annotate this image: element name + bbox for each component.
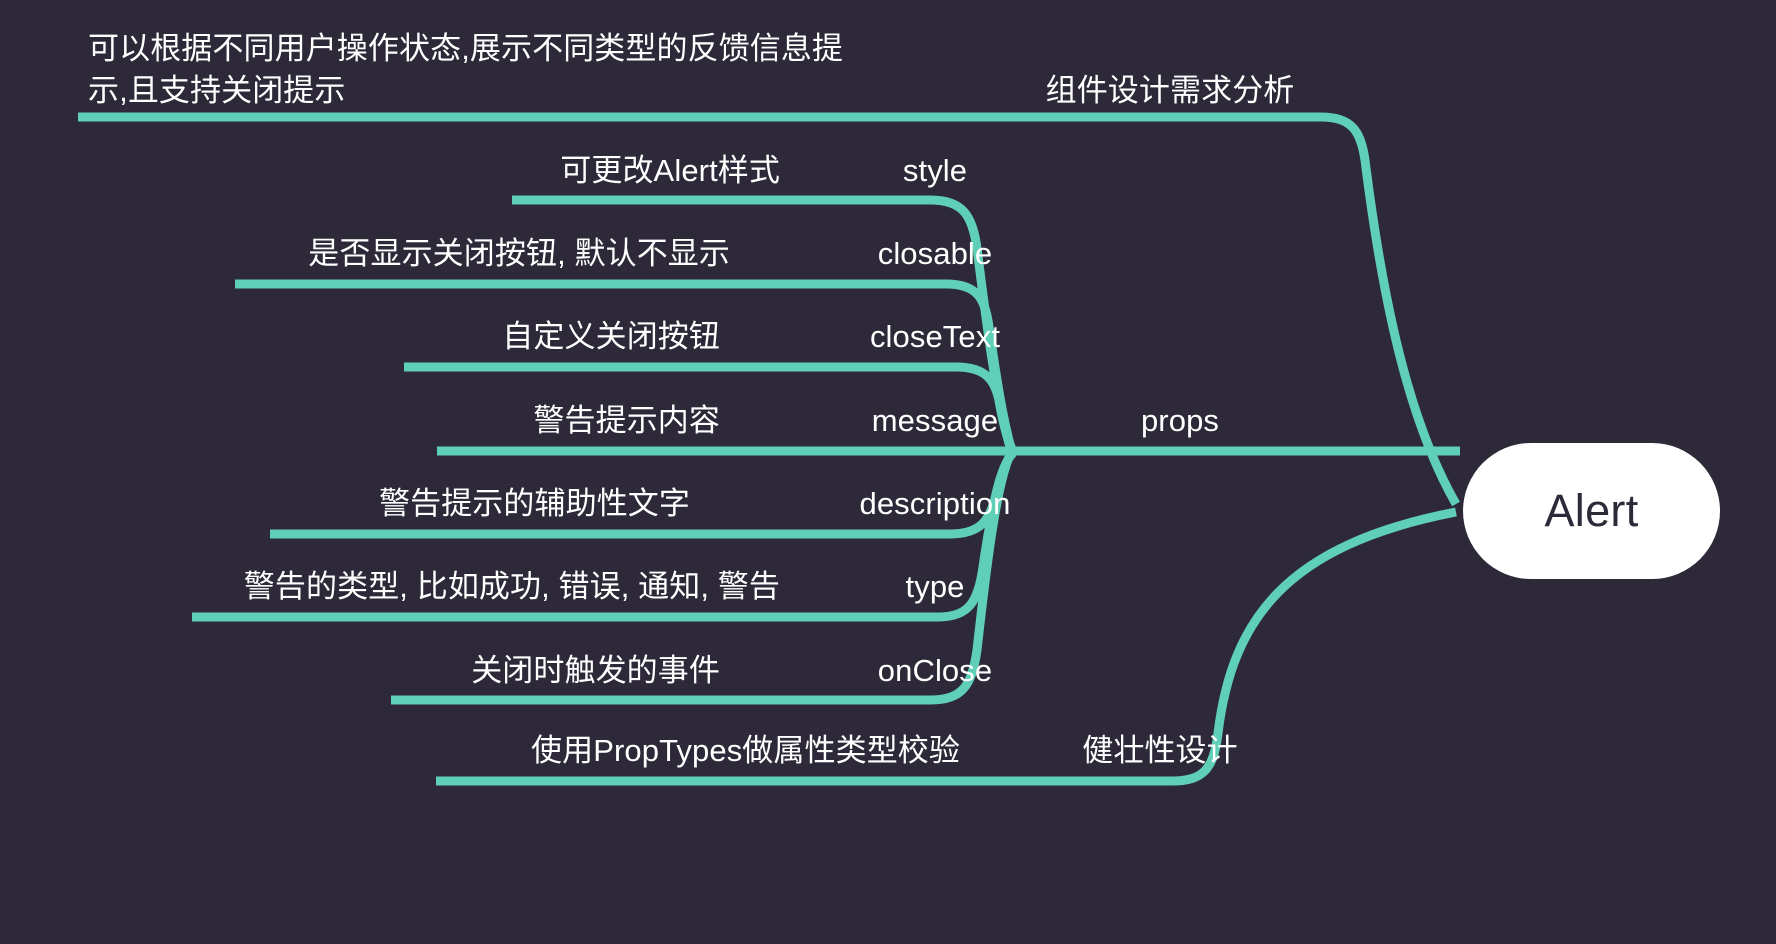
node-props[interactable]: props xyxy=(1100,400,1260,442)
node-prop-type-description[interactable]: 警告的类型, 比如成功, 错误, 通知, 警告 xyxy=(40,566,780,608)
node-prop-description[interactable]: description xyxy=(830,483,1040,525)
node-root-alert-label: Alert xyxy=(1544,485,1638,537)
node-prop-closetext[interactable]: closeText xyxy=(830,316,1040,358)
node-requirements-description[interactable]: 可以根据不同用户操作状态,展示不同类型的反馈信息提 示,且支持关闭提示 xyxy=(88,28,878,112)
node-prop-closable-description[interactable]: 是否显示关闭按钮, 默认不显示 xyxy=(130,233,730,275)
node-prop-closable[interactable]: closable xyxy=(830,233,1040,275)
node-root-alert[interactable]: Alert xyxy=(1463,443,1720,579)
node-prop-style[interactable]: style xyxy=(830,150,1040,192)
node-prop-type[interactable]: type xyxy=(830,566,1040,608)
node-requirements[interactable]: 组件设计需求分析 xyxy=(1040,70,1300,112)
node-prop-style-description[interactable]: 可更改Alert样式 xyxy=(180,150,780,192)
node-robustness[interactable]: 健壮性设计 xyxy=(1010,730,1310,772)
node-prop-description-description[interactable]: 警告提示的辅助性文字 xyxy=(90,483,690,525)
node-robustness-proptypes[interactable]: 使用PropTypes做属性类型校验 xyxy=(300,730,960,772)
node-prop-onclose[interactable]: onClose xyxy=(830,650,1040,692)
node-prop-message-description[interactable]: 警告提示内容 xyxy=(120,400,720,442)
mindmap-canvas: 可以根据不同用户操作状态,展示不同类型的反馈信息提 示,且支持关闭提示 组件设计… xyxy=(0,0,1776,944)
node-prop-onclose-description[interactable]: 关闭时触发的事件 xyxy=(120,650,720,692)
node-prop-closetext-description[interactable]: 自定义关闭按钮 xyxy=(120,316,720,358)
node-prop-message[interactable]: message xyxy=(830,400,1040,442)
